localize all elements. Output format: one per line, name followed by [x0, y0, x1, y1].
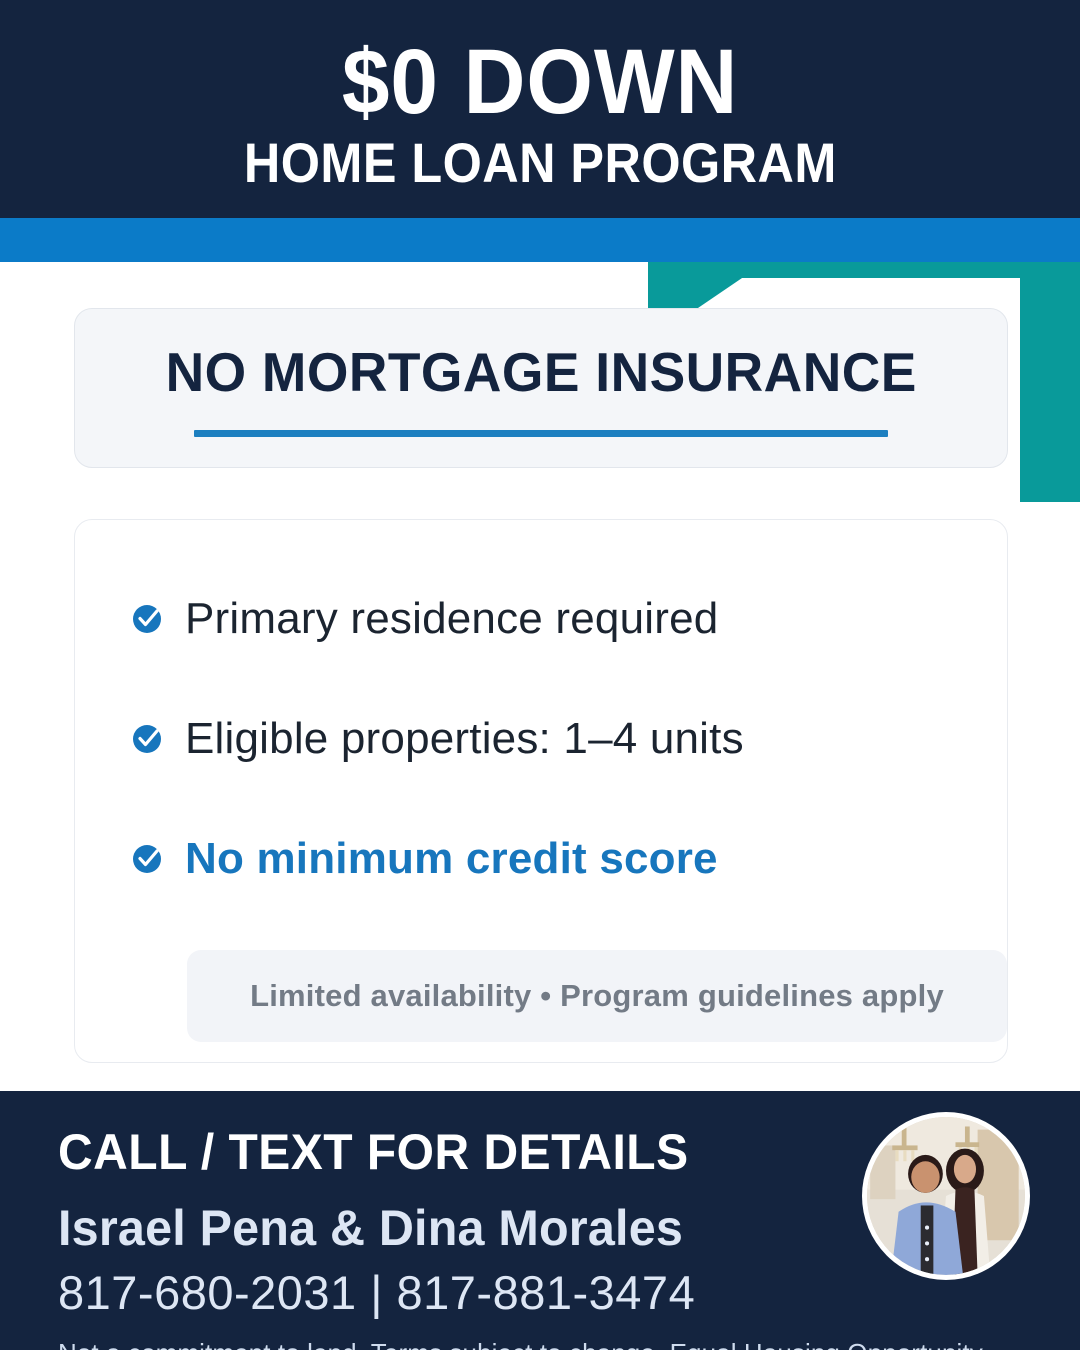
list-item-label: No minimum credit score: [185, 834, 718, 884]
list-item-label: Eligible properties: 1–4 units: [185, 714, 744, 764]
footer-phone-numbers[interactable]: 817-680-2031 | 817-881-3474: [58, 1265, 1022, 1320]
contact-footer: CALL / TEXT FOR DETAILS Israel Pena & Di…: [0, 1091, 1080, 1350]
availability-note-box: Limited availability • Program guideline…: [187, 950, 1007, 1042]
blue-divider-stripe: [0, 218, 1080, 262]
headline-text: NO MORTGAGE INSURANCE: [165, 340, 916, 404]
list-item-label: Primary residence required: [185, 594, 718, 644]
avatar: [862, 1112, 1030, 1280]
list-item: No minimum credit score: [131, 830, 951, 888]
headline-underline: [194, 430, 888, 437]
footer-cta-headline: CALL / TEXT FOR DETAILS: [58, 1123, 983, 1181]
benefits-card: Primary residence required Eligible prop…: [74, 519, 1008, 1063]
availability-note-text: Limited availability • Program guideline…: [250, 978, 944, 1014]
check-circle-icon: [131, 603, 163, 635]
footer-agent-names: Israel Pena & Dina Morales: [58, 1199, 993, 1257]
check-circle-icon: [131, 843, 163, 875]
flyer-canvas: $0 DOWN HOME LOAN PROGRAM NO MORTGAGE IN…: [0, 0, 1080, 1350]
agent-couple-photo: [867, 1117, 1025, 1275]
header-banner: $0 DOWN HOME LOAN PROGRAM: [0, 0, 1080, 218]
header-subtitle: HOME LOAN PROGRAM: [244, 134, 837, 193]
photo-illustration: [867, 1117, 1025, 1275]
headline-card: NO MORTGAGE INSURANCE: [74, 308, 1008, 468]
header-title: $0 DOWN: [342, 39, 738, 126]
list-item: Eligible properties: 1–4 units: [131, 710, 951, 768]
list-item: Primary residence required: [131, 590, 951, 648]
check-circle-icon: [131, 723, 163, 755]
footer-disclaimer: Not a commitment to lend. Terms subject …: [58, 1338, 1022, 1350]
